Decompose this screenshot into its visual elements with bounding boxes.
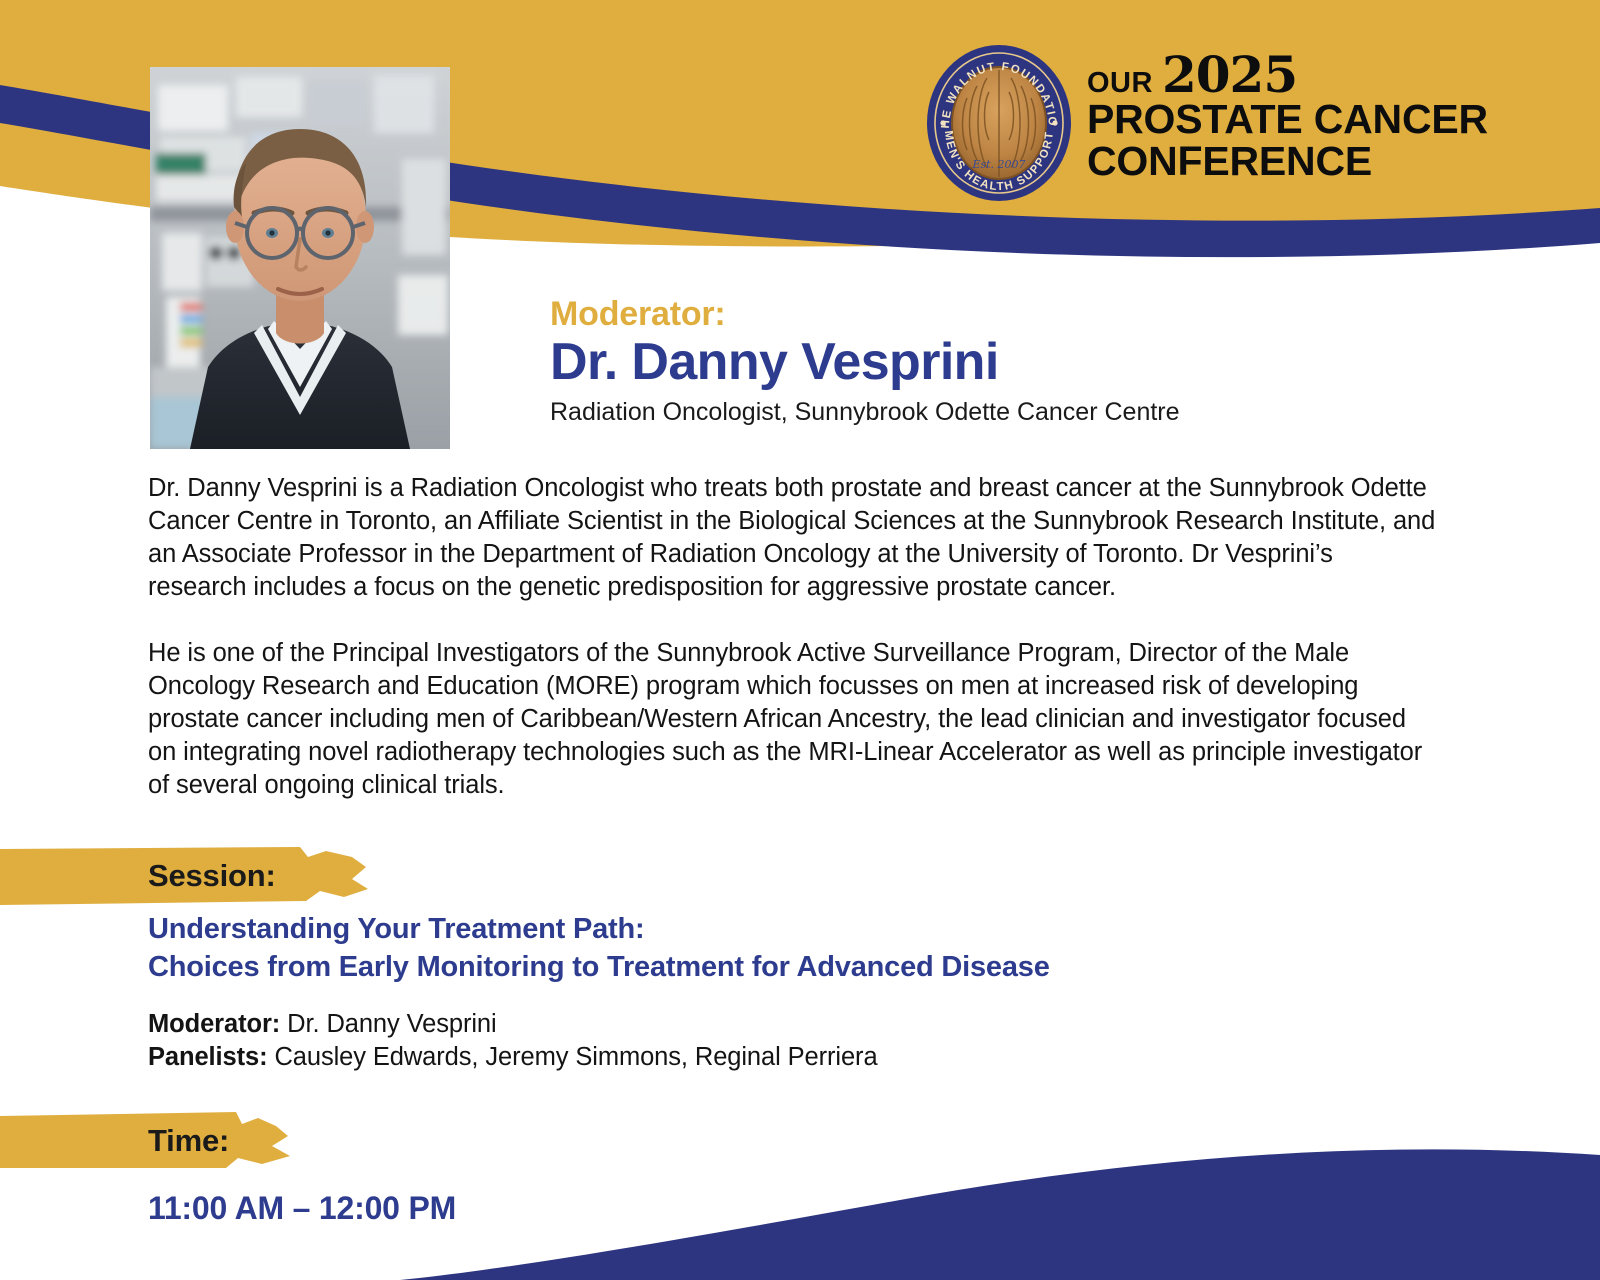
- session-moderator-label: Moderator:: [148, 1010, 280, 1038]
- session-tag-label: Session:: [148, 858, 276, 894]
- session-moderator-value: Dr. Danny Vesprini: [287, 1010, 496, 1038]
- session-title-line2: Choices from Early Monitoring to Treatme…: [148, 948, 1348, 986]
- session-panelists-label: Panelists:: [148, 1043, 267, 1071]
- speaker-name: Dr. Danny Vesprini: [550, 333, 1470, 391]
- session-panelists-value: Causley Edwards, Jeremy Simmons, Reginal…: [274, 1043, 877, 1071]
- svg-text:Est. 2007: Est. 2007: [971, 158, 1025, 171]
- time-tag-label: Time:: [148, 1123, 229, 1159]
- session-panelists-row: Panelists: Causley Edwards, Jeremy Simmo…: [148, 1041, 1348, 1074]
- bio-paragraph-1: Dr. Danny Vesprini is a Radiation Oncolo…: [148, 472, 1438, 604]
- conference-title-year: 2025: [1162, 52, 1297, 97]
- speaker-heading: Moderator: Dr. Danny Vesprini Radiation …: [550, 295, 1470, 429]
- speaker-title: Radiation Oncologist, Sunnybrook Odette …: [550, 397, 1470, 428]
- speaker-photo: [150, 67, 450, 449]
- session-details: Understanding Your Treatment Path: Choic…: [148, 910, 1348, 1074]
- session-people: Moderator: Dr. Danny Vesprini Panelists:…: [148, 1008, 1348, 1074]
- session-moderator-row: Moderator: Dr. Danny Vesprini: [148, 1008, 1348, 1041]
- conference-title-line3: CONFERENCE: [1087, 141, 1488, 182]
- navy-bottom-curve: [400, 1149, 1600, 1280]
- bio-paragraph-2: He is one of the Principal Investigators…: [148, 637, 1438, 802]
- session-title-line1: Understanding Your Treatment Path:: [148, 910, 1348, 948]
- walnut-seal-logo: THE WALNUT FOUNDATION MEN'S HEALTH SUPPO…: [925, 44, 1073, 202]
- speaker-portrait-image: [150, 67, 450, 449]
- conference-title-our: OUR: [1087, 69, 1153, 98]
- conference-title-line2: PROSTATE CANCER: [1087, 99, 1488, 140]
- conference-speaker-poster: THE WALNUT FOUNDATION MEN'S HEALTH SUPPO…: [0, 0, 1600, 1280]
- speaker-role-label: Moderator:: [550, 295, 1470, 334]
- conference-title: OUR 2025 PROSTATE CANCER CONFERENCE: [1087, 52, 1488, 182]
- time-value: 11:00 AM – 12:00 PM: [148, 1190, 456, 1227]
- speaker-biography: Dr. Danny Vesprini is a Radiation Oncolo…: [148, 472, 1438, 802]
- conference-branding: THE WALNUT FOUNDATION MEN'S HEALTH SUPPO…: [925, 44, 1488, 202]
